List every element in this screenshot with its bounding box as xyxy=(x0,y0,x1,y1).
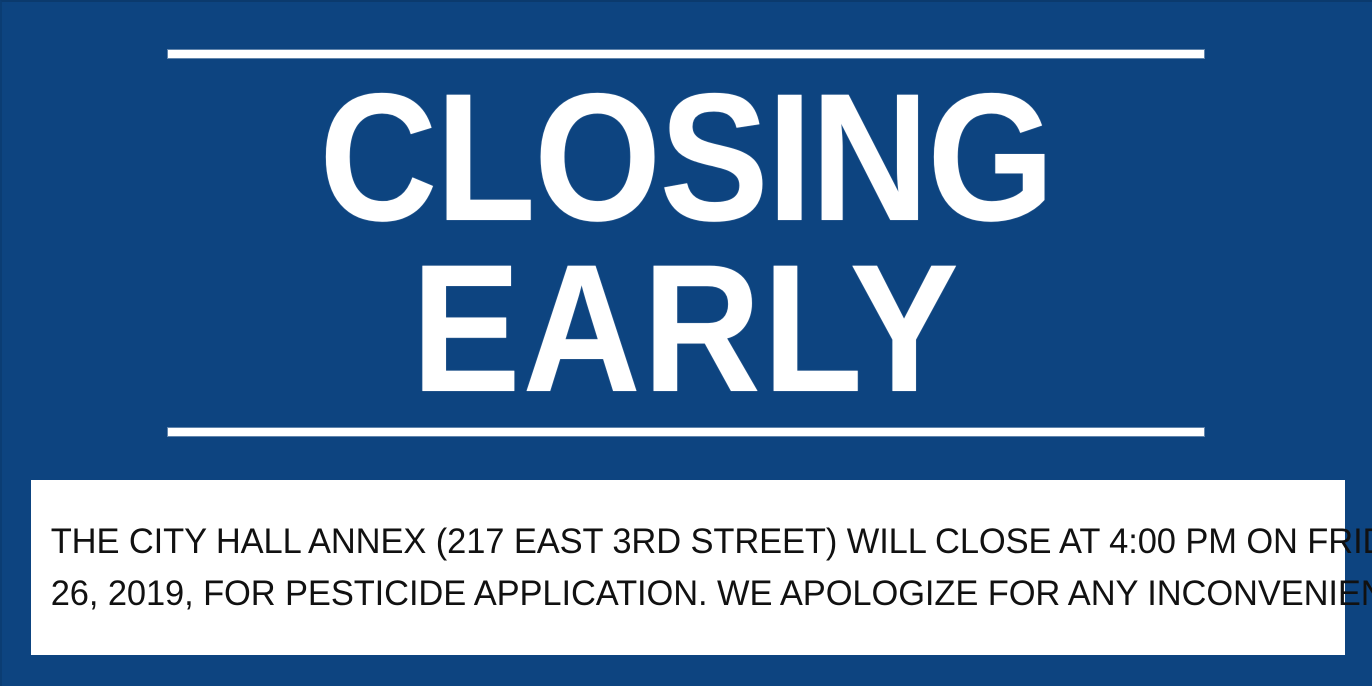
message-line-1: THE CITY HALL ANNEX (217 EAST 3RD STREET… xyxy=(51,516,1326,568)
headline-block: CLOSING EARLY xyxy=(168,50,1204,436)
headline-line-early: EARLY xyxy=(220,243,1152,414)
closing-early-notice-poster: CLOSING EARLY THE CITY HALL ANNEX (217 E… xyxy=(0,0,1372,686)
message-panel: THE CITY HALL ANNEX (217 EAST 3RD STREET… xyxy=(31,480,1345,655)
headline-line-closing: CLOSING xyxy=(220,72,1152,243)
message-line-2: 26, 2019, FOR PESTICIDE APPLICATION. WE … xyxy=(51,568,1326,620)
page-title: CLOSING EARLY xyxy=(168,72,1204,414)
message-text: THE CITY HALL ANNEX (217 EAST 3RD STREET… xyxy=(51,516,1326,620)
